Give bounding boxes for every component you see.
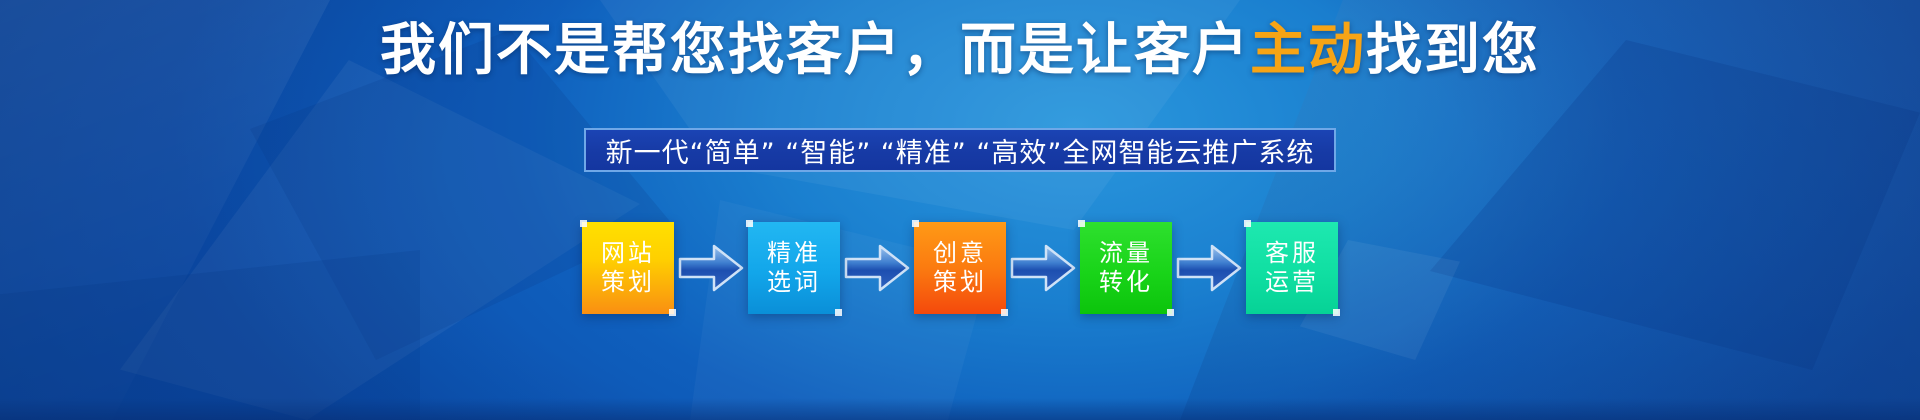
flow-step-line1: 网站 <box>601 239 655 268</box>
flow-step-website-planning[interactable]: 网站 策划 <box>582 222 674 314</box>
process-flow: 网站 策划 精准 选词 <box>582 222 1338 314</box>
headline-suffix: 找到您 <box>1366 18 1540 83</box>
arrow-right-icon <box>840 222 914 314</box>
headline-prefix: 我们不是帮您找客户，而是让客户 <box>380 18 1250 83</box>
flow-step-line2: 运营 <box>1265 268 1319 297</box>
headline-highlight: 主动 <box>1250 18 1366 83</box>
flow-step-line1: 客服 <box>1265 239 1319 268</box>
bottom-shadow-strip <box>0 398 1920 420</box>
flow-step-creative-planning[interactable]: 创意 策划 <box>914 222 1006 314</box>
flow-step-line1: 精准 <box>767 239 821 268</box>
flow-step-line2: 策划 <box>601 268 655 297</box>
flow-step-customer-service-operation[interactable]: 客服 运营 <box>1246 222 1338 314</box>
arrow-right-icon <box>1172 222 1246 314</box>
flow-step-line1: 创意 <box>933 239 987 268</box>
promo-banner: 我们不是帮您找客户，而是让客户主动找到您 新一代“简单” “智能” “精准” “… <box>0 0 1920 420</box>
flow-step-keyword-selection[interactable]: 精准 选词 <box>748 222 840 314</box>
flow-step-traffic-conversion[interactable]: 流量 转化 <box>1080 222 1172 314</box>
arrow-right-icon <box>1006 222 1080 314</box>
flow-step-line2: 选词 <box>767 268 821 297</box>
flow-step-line2: 转化 <box>1099 268 1153 297</box>
banner-subtitle-text: 新一代“简单” “智能” “精准” “高效”全网智能云推广系统 <box>606 131 1315 170</box>
banner-headline: 我们不是帮您找客户，而是让客户主动找到您 <box>0 18 1920 84</box>
flow-step-line2: 策划 <box>933 268 987 297</box>
flow-step-line1: 流量 <box>1099 239 1153 268</box>
banner-subtitle-bar: 新一代“简单” “智能” “精准” “高效”全网智能云推广系统 <box>584 128 1336 172</box>
arrow-right-icon <box>674 222 748 314</box>
